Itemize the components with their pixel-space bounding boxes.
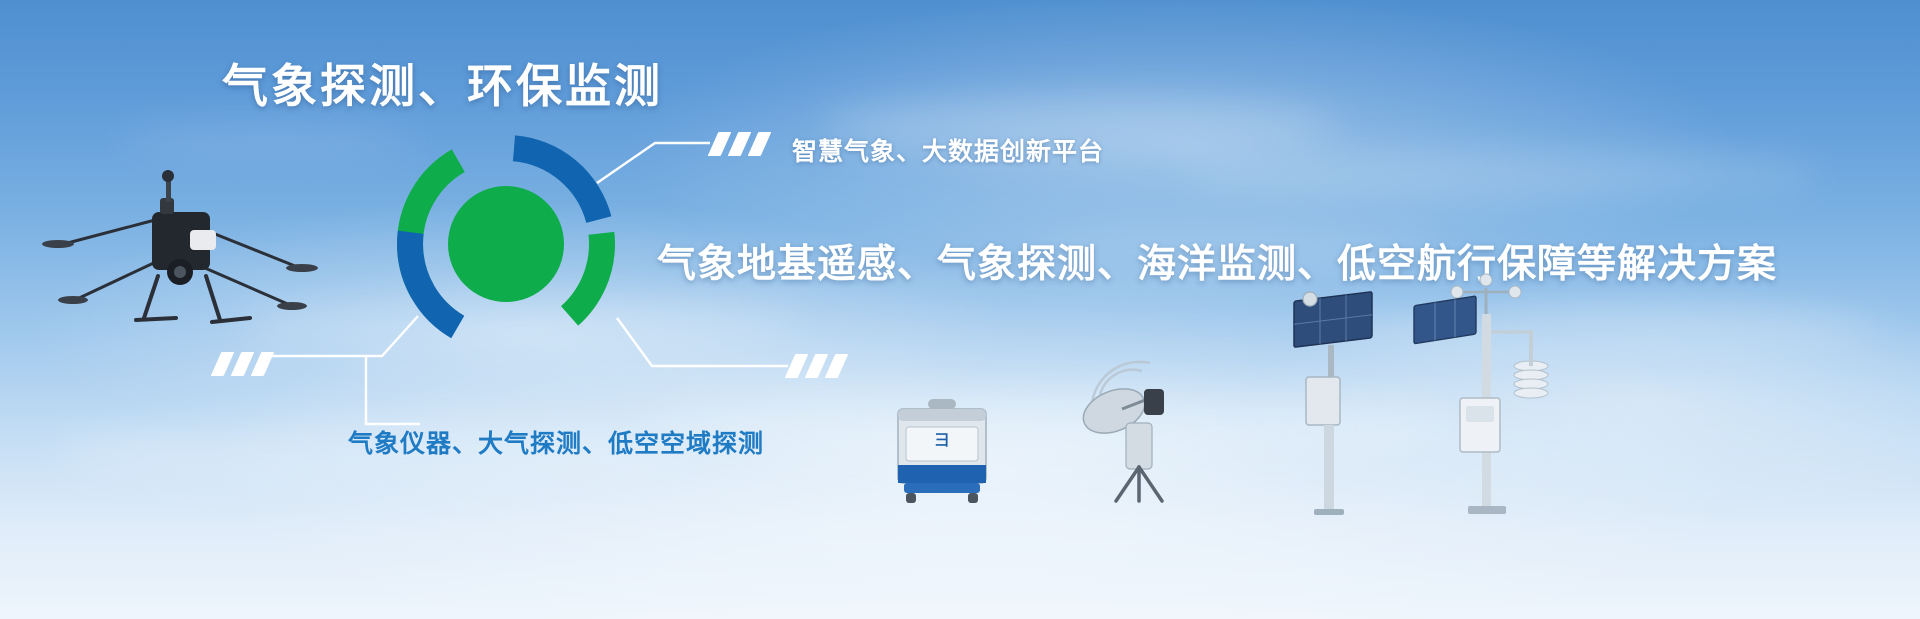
- quadcopter-drone-image: [40, 150, 320, 340]
- cloud-streak: [1180, 150, 1820, 198]
- slash-mark-icon: [216, 352, 269, 376]
- banner-headline: 气象探测、环保监测: [222, 50, 663, 116]
- slash-mark-icon: [713, 132, 766, 156]
- callout-main-label: 气象地基遥感、气象探测、海洋监测、低空航行保障等解决方案: [657, 233, 1777, 289]
- slash-mark-icon: [790, 354, 843, 378]
- automatic-weather-station-image: [1400, 270, 1570, 515]
- promo-banner: 气象探测、环保监测 智慧气象、大数据创新平台 气象地基遥感、气象探测、: [0, 0, 1920, 619]
- solar-panel-pole-station-image: [1280, 285, 1385, 515]
- callout-top-label: 智慧气象、大数据创新平台: [792, 132, 1104, 168]
- callout-bottom-label: 气象仪器、大气探测、低空空域探测: [348, 424, 764, 460]
- svg-text:彐: 彐: [934, 431, 949, 449]
- satellite-dish-tripod-image: [1070, 355, 1200, 505]
- portable-lidar-cabinet-image: 彐: [890, 395, 995, 505]
- donut-ring-graphic: [392, 130, 620, 358]
